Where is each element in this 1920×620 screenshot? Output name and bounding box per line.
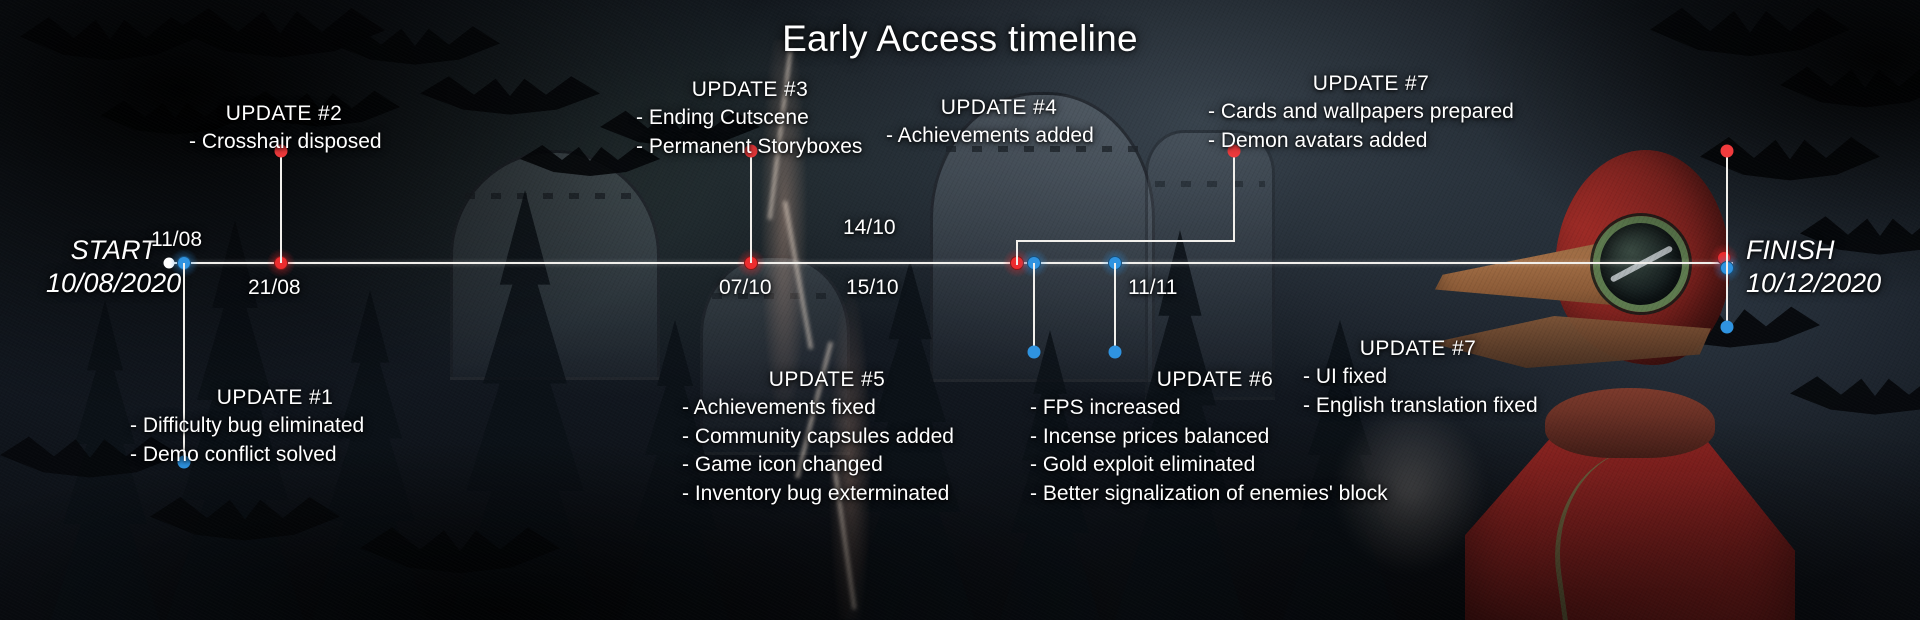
- callout-title: UPDATE #7: [1208, 70, 1534, 98]
- callout-update-2: UPDATE #2 - Crosshair disposed: [189, 100, 379, 157]
- callout-line: - English translation fixed: [1303, 392, 1533, 421]
- callout-line: - Demo conflict solved: [130, 441, 420, 470]
- finish-label-text: FINISH: [1746, 234, 1881, 267]
- connector-update-4-vertical: [1016, 241, 1018, 265]
- connector-update-7-bottom: [1726, 263, 1728, 326]
- finish-date-text: 10/12/2020: [1746, 267, 1881, 300]
- callout-update-4: UPDATE #4 - Achievements added: [886, 94, 1112, 151]
- callout-title: UPDATE #2: [189, 100, 379, 128]
- callout-line: - Difficulty bug eliminated: [130, 412, 420, 441]
- callout-line: - Achievements added: [886, 122, 1112, 151]
- callout-line: - Achievements fixed: [682, 394, 972, 423]
- callout-update-7-top: UPDATE #7 - Cards and wallpapers prepare…: [1208, 70, 1534, 155]
- callout-line: - Cards and wallpapers prepared: [1208, 98, 1534, 127]
- start-date-text: 10/08/2020: [46, 267, 181, 300]
- callout-title: UPDATE #4: [886, 94, 1112, 122]
- bat-silhouette: [1780, 60, 1920, 126]
- date-label-07-10: 07/10: [719, 276, 772, 300]
- callout-line: - Demon avatars added: [1208, 127, 1534, 156]
- connector-update-4-horizontal: [1016, 240, 1234, 242]
- callout-title: UPDATE #7: [1303, 335, 1533, 363]
- bat-silhouette: [420, 70, 600, 132]
- callout-title: UPDATE #5: [682, 366, 972, 394]
- date-label-11-11: 11/11: [1128, 276, 1177, 300]
- leaf-dot-update-7-top: [1721, 145, 1734, 158]
- leaf-dot-update-6: [1109, 346, 1122, 359]
- finish-label: FINISH 10/12/2020: [1746, 234, 1881, 301]
- page-title: Early Access timeline: [0, 18, 1920, 60]
- background-art: [0, 0, 1920, 620]
- callout-line: - Gold exploit eliminated: [1030, 451, 1400, 480]
- callout-line: - Game icon changed: [682, 451, 972, 480]
- callout-line: - UI fixed: [1303, 363, 1533, 392]
- connector-update-7-top: [1726, 152, 1728, 263]
- callout-update-7-bottom: UPDATE #7 - UI fixed - English translati…: [1303, 335, 1533, 420]
- callout-line: - Inventory bug exterminated: [682, 480, 972, 509]
- callout-line: - Crosshair disposed: [189, 128, 379, 157]
- date-label-11-08: 11/08: [151, 228, 202, 252]
- callout-title: UPDATE #3: [636, 76, 864, 104]
- callout-line: - Ending Cutscene: [636, 104, 864, 133]
- callout-line: - Incense prices balanced: [1030, 423, 1400, 452]
- date-label-15-10: 15/10: [846, 276, 899, 300]
- date-label-21-08: 21/08: [248, 276, 301, 300]
- leaf-dot-update-5: [1028, 346, 1041, 359]
- connector-update-3: [750, 152, 752, 263]
- callout-line: - Permanent Storyboxes: [636, 133, 864, 162]
- figure-collar: [1545, 388, 1715, 458]
- leaf-dot-update-7-bottom: [1721, 321, 1734, 334]
- timeline-infographic: Early Access timeline START 10/08/2020 F…: [0, 0, 1920, 620]
- callout-update-5: UPDATE #5 - Achievements fixed - Communi…: [682, 366, 972, 508]
- connector-update-4-riser: [1233, 152, 1235, 242]
- callout-line: - Better signalization of enemies' block: [1030, 480, 1400, 509]
- connector-update-2: [280, 152, 282, 263]
- callout-update-1: UPDATE #1 - Difficulty bug eliminated - …: [130, 384, 420, 469]
- callout-title: UPDATE #1: [130, 384, 420, 412]
- timeline-axis: [165, 262, 1733, 264]
- callout-line: - Community capsules added: [682, 423, 972, 452]
- date-label-14-10: 14/10: [843, 216, 896, 240]
- connector-update-5: [1033, 263, 1035, 352]
- figure-mask-lens: [1593, 216, 1689, 312]
- connector-update-6: [1114, 263, 1116, 352]
- callout-update-3: UPDATE #3 - Ending Cutscene - Permanent …: [636, 76, 864, 161]
